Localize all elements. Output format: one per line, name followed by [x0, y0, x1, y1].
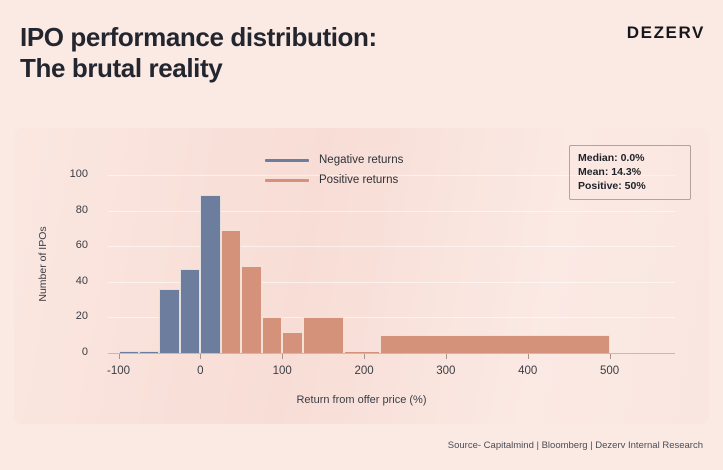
- histogram-bar: [262, 317, 282, 353]
- x-tick-label: -100: [94, 365, 144, 377]
- x-tick: [119, 354, 120, 359]
- page-title: IPO performance distribution: The brutal…: [20, 22, 377, 84]
- stat-positive: Positive: 50%: [578, 179, 683, 193]
- histogram-bar: [241, 266, 261, 353]
- source-note: Source- Capitalmind | Bloomberg | Dezerv…: [448, 440, 703, 451]
- legend-item: Positive returns: [265, 170, 403, 190]
- y-tick-label: 80: [54, 204, 88, 216]
- histogram-bar: [180, 269, 200, 353]
- x-axis-line: [108, 353, 675, 354]
- legend-item: Negative returns: [265, 150, 403, 170]
- histogram-bar: [200, 195, 220, 353]
- x-tick-label: 300: [421, 365, 471, 377]
- y-tick-label: 100: [54, 168, 88, 180]
- y-tick-label: 60: [54, 239, 88, 251]
- x-tick: [200, 354, 201, 359]
- x-tick: [282, 354, 283, 359]
- stats-summary-box: Median: 0.0% Mean: 14.3% Positive: 50%: [569, 145, 691, 200]
- y-tick-label: 40: [54, 275, 88, 287]
- histogram-bar: [221, 230, 241, 353]
- y-tick-label: 0: [54, 346, 88, 358]
- histogram-bar: [159, 289, 179, 353]
- chart-card: 020406080100 Number of IPOs -10001002003…: [14, 128, 709, 424]
- x-tick: [364, 354, 365, 359]
- x-tick-label: 500: [585, 365, 635, 377]
- x-tick-label: 200: [339, 365, 389, 377]
- x-tick-label: 100: [257, 365, 307, 377]
- histogram-bar: [380, 335, 609, 353]
- brand-logo: DEZERV: [627, 23, 705, 43]
- legend-swatch: [265, 159, 309, 162]
- histogram-bar: [303, 317, 344, 353]
- x-tick-label: 400: [503, 365, 553, 377]
- x-tick: [528, 354, 529, 359]
- gridline: [108, 211, 675, 212]
- legend-swatch: [265, 179, 309, 182]
- x-tick: [610, 354, 611, 359]
- y-axis-label: Number of IPOs: [37, 209, 49, 319]
- gridline: [108, 246, 675, 247]
- x-axis-label: Return from offer price (%): [14, 394, 709, 406]
- chart-legend: Negative returnsPositive returns: [265, 150, 403, 190]
- legend-label: Negative returns: [319, 154, 403, 166]
- stat-median: Median: 0.0%: [578, 151, 683, 165]
- histogram-plot: 020406080100 Number of IPOs -10001002003…: [14, 128, 709, 424]
- stat-mean: Mean: 14.3%: [578, 165, 683, 179]
- legend-label: Positive returns: [319, 174, 398, 186]
- x-tick: [446, 354, 447, 359]
- histogram-bar: [282, 332, 302, 353]
- page-header: IPO performance distribution: The brutal…: [0, 0, 723, 120]
- y-tick-label: 20: [54, 310, 88, 322]
- x-tick-label: 0: [175, 365, 225, 377]
